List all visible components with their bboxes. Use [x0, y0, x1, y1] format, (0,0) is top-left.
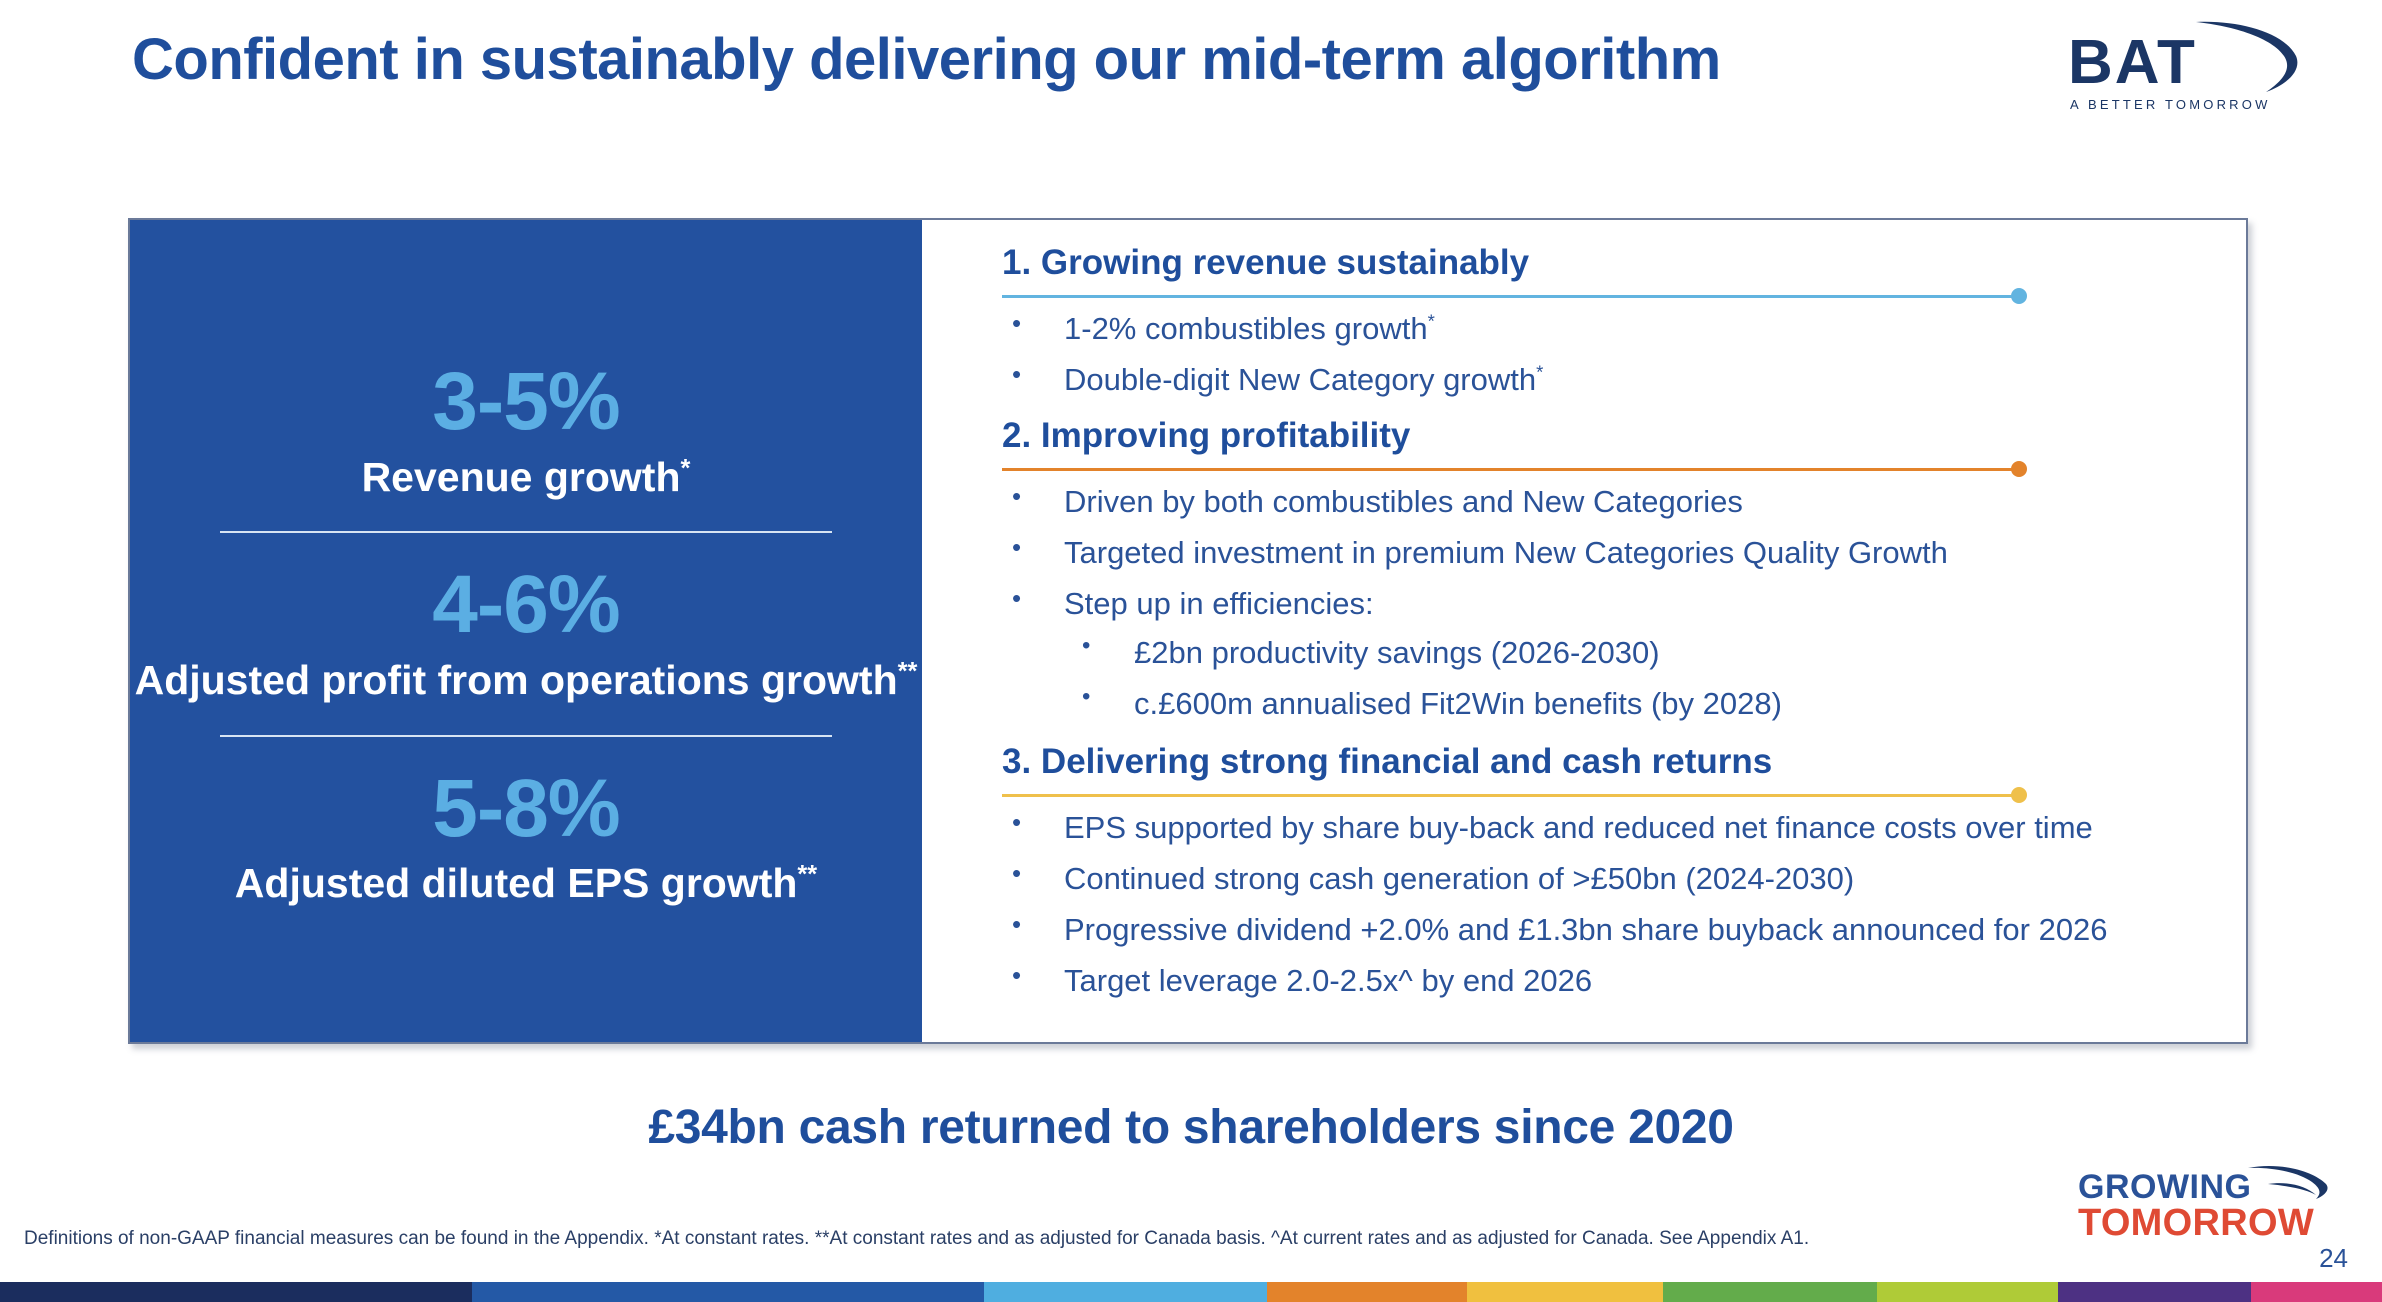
- metric-label: Adjusted profit from operations growth**: [130, 657, 922, 705]
- metric-adjusted-diluted-eps-growth: 5-8% Adjusted diluted EPS growth**: [130, 767, 922, 908]
- metric-label-text: Adjusted diluted EPS growth: [235, 860, 798, 906]
- metric-label: Revenue growth*: [130, 454, 922, 502]
- pillar-heading: 2. Improving profitability: [1002, 415, 2220, 457]
- pillar-bullet-list: 1-2% combustibles growth* Double-digit N…: [1002, 313, 2220, 395]
- list-item: Progressive dividend +2.0% and £1.3bn sh…: [1002, 914, 2220, 945]
- metrics-panel: 3-5% Revenue growth* 4-6% Adjusted profi…: [130, 220, 922, 1042]
- bullet-text: Driven by both combustibles and New Cate…: [1064, 484, 1743, 519]
- pillar-financial-cash-returns: 3. Delivering strong financial and cash …: [1002, 741, 2220, 996]
- color-strip-segment-1: [0, 1282, 472, 1302]
- list-item: Step up in efficiencies: £2bn productivi…: [1002, 588, 2220, 719]
- bat-wordmark: BAT: [2068, 32, 2197, 94]
- bullet-footnote-mark: *: [1428, 311, 1435, 332]
- metric-adjusted-profit-growth: 4-6% Adjusted profit from operations gro…: [130, 563, 922, 704]
- growing-tomorrow-line2: TOMORROW: [2078, 1204, 2314, 1242]
- bullet-text: 1-2% combustibles growth: [1064, 311, 1428, 346]
- pillar-heading: 3. Delivering strong financial and cash …: [1002, 741, 2220, 783]
- pillars-panel: 1. Growing revenue sustainably 1-2% comb…: [922, 220, 2246, 1042]
- footnote-text: Definitions of non-GAAP financial measur…: [24, 1228, 1809, 1250]
- color-strip-segment-9: [2251, 1282, 2382, 1302]
- content-box: 3-5% Revenue growth* 4-6% Adjusted profi…: [128, 218, 2248, 1044]
- color-strip-segment-2: [472, 1282, 984, 1302]
- growing-tomorrow-logo: GROWING TOMORROW: [2078, 1170, 2328, 1250]
- color-strip-segment-7: [1877, 1282, 2058, 1302]
- page-number: 24: [2319, 1243, 2348, 1274]
- bullet-text: Target leverage 2.0-2.5x^ by end 2026: [1064, 963, 1592, 998]
- pillar-bullet-list: EPS supported by share buy-back and redu…: [1002, 812, 2220, 996]
- metric-label: Adjusted diluted EPS growth**: [130, 860, 922, 908]
- pillar-rule-dot-icon: [2011, 461, 2027, 477]
- metric-label-text: Adjusted profit from operations growth: [135, 657, 898, 703]
- pillar-bullet-list: Driven by both combustibles and New Cate…: [1002, 486, 2220, 719]
- color-strip-segment-4: [1267, 1282, 1467, 1302]
- metric-footnote-mark: *: [681, 454, 691, 482]
- list-item: c.£600m annualised Fit2Win benefits (by …: [1064, 688, 2220, 719]
- metric-divider: [220, 735, 832, 737]
- color-strip-segment-3: [984, 1282, 1267, 1302]
- bat-swoosh-icon: [2192, 18, 2302, 98]
- slide-root: Confident in sustainably delivering our …: [0, 0, 2382, 1302]
- growing-tomorrow-swoosh-icon: [2246, 1162, 2332, 1202]
- metric-value: 5-8%: [130, 767, 922, 851]
- bullet-text: Progressive dividend +2.0% and £1.3bn sh…: [1064, 912, 2108, 947]
- list-item: Double-digit New Category growth*: [1002, 364, 2220, 395]
- list-item: Targeted investment in premium New Categ…: [1002, 537, 2220, 568]
- pillar-rule: [1002, 793, 2020, 796]
- pillar-rule: [1002, 294, 2020, 297]
- bat-logo: BAT A BETTER TOMORROW: [2060, 18, 2300, 118]
- growing-tomorrow-line1: GROWING: [2078, 1170, 2251, 1204]
- list-item: Driven by both combustibles and New Cate…: [1002, 486, 2220, 517]
- pillar-rule-line: [1002, 295, 2020, 298]
- bullet-text: Continued strong cash generation of >£50…: [1064, 861, 1854, 896]
- metric-footnote-mark: **: [898, 657, 918, 685]
- metric-value: 3-5%: [130, 360, 922, 444]
- footer-headline: £34bn cash returned to shareholders sinc…: [0, 1100, 2382, 1155]
- pillar-heading: 1. Growing revenue sustainably: [1002, 242, 2220, 284]
- bullet-text: EPS supported by share buy-back and redu…: [1064, 810, 2093, 845]
- page-title: Confident in sustainably delivering our …: [132, 26, 1721, 93]
- metric-value: 4-6%: [130, 563, 922, 647]
- pillar-rule-dot-icon: [2011, 288, 2027, 304]
- pillar-rule: [1002, 467, 2020, 470]
- pillar-rule-line: [1002, 468, 2020, 471]
- pillar-rule-dot-icon: [2011, 787, 2027, 803]
- bullet-footnote-mark: *: [1536, 362, 1543, 383]
- pillar-growing-revenue: 1. Growing revenue sustainably 1-2% comb…: [1002, 242, 2220, 395]
- metric-footnote-mark: **: [797, 861, 817, 889]
- list-item: Target leverage 2.0-2.5x^ by end 2026: [1002, 965, 2220, 996]
- list-item: 1-2% combustibles growth*: [1002, 313, 2220, 344]
- metric-label-text: Revenue growth: [362, 454, 681, 500]
- list-item: Continued strong cash generation of >£50…: [1002, 863, 2220, 894]
- metric-divider: [220, 531, 832, 533]
- bat-tagline: A BETTER TOMORROW: [2070, 98, 2271, 111]
- subbullet-text: £2bn productivity savings (2026-2030): [1134, 635, 1660, 670]
- list-item: £2bn productivity savings (2026-2030): [1064, 637, 2220, 668]
- color-strip-segment-5: [1467, 1282, 1662, 1302]
- bullet-text: Double-digit New Category growth: [1064, 362, 1536, 397]
- pillar-subbullet-list: £2bn productivity savings (2026-2030) c.…: [1064, 637, 2220, 719]
- pillar-rule-line: [1002, 794, 2020, 797]
- metric-revenue-growth: 3-5% Revenue growth*: [130, 360, 922, 501]
- subbullet-text: c.£600m annualised Fit2Win benefits (by …: [1134, 686, 1782, 721]
- pillar-improving-profitability: 2. Improving profitability Driven by bot…: [1002, 415, 2220, 719]
- bottom-color-strip: [0, 1282, 2382, 1302]
- list-item: EPS supported by share buy-back and redu…: [1002, 812, 2220, 843]
- bullet-text: Targeted investment in premium New Categ…: [1064, 535, 1948, 570]
- color-strip-segment-8: [2058, 1282, 2251, 1302]
- bullet-text: Step up in efficiencies:: [1064, 586, 1374, 621]
- color-strip-segment-6: [1663, 1282, 1877, 1302]
